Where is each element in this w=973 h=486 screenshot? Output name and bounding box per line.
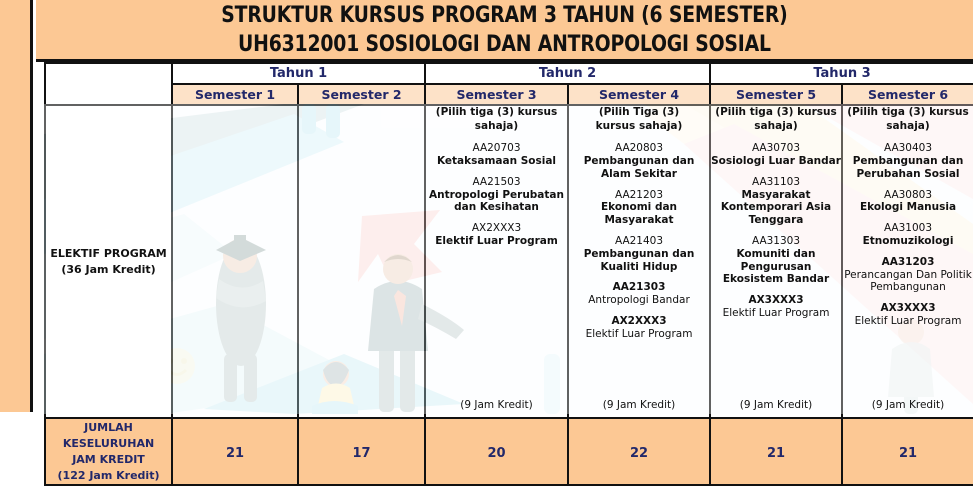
course-name: Elektif Luar Program (435, 235, 558, 248)
course-code: AA21403 (584, 235, 695, 248)
course-item: AX2XXX3 Elektif Luar Program (435, 222, 558, 248)
cell-semester-2 (298, 105, 425, 418)
course-code: AA30803 (860, 189, 956, 202)
course-item: AX2XXX3 Elektif Luar Program (586, 315, 693, 341)
left-orange-band (0, 0, 33, 412)
pick-note-semester-5: (Pilih tiga (3) kursus sahaja) (715, 106, 836, 133)
course-item: AA31003 Etnomuzikologi (863, 222, 954, 248)
course-item: AA30703 Sosiologi Luar Bandar (711, 142, 841, 168)
course-name: Perancangan Dan Politik Pembangunan (844, 269, 972, 295)
course-item: AA31203 Perancangan Dan Politik Pembangu… (844, 256, 972, 294)
total-credit-row: JUMLAH KESELURUHAN JAM KREDIT (122 Jam K… (45, 418, 973, 485)
total-value: 22 (630, 446, 648, 461)
course-code: AX3XXX3 (723, 294, 830, 307)
semester-header-4: Semester 4 (568, 84, 710, 105)
course-code: AA31303 (723, 235, 829, 248)
year-header-1: Tahun 1 (172, 63, 425, 84)
year-header-row: Tahun 1 Tahun 2 Tahun 3 (45, 63, 973, 84)
course-name: Pembangunan dan Alam Sekitar (584, 155, 695, 181)
course-name: Pembangunan dan Perubahan Sosial (853, 155, 964, 181)
course-code: AX3XXX3 (855, 302, 962, 315)
year-header-3: Tahun 3 (710, 63, 973, 84)
course-structure-page: STRUKTUR KURSUS PROGRAM 3 TAHUN (6 SEMES… (0, 0, 973, 486)
corner-blank-cell (45, 63, 172, 105)
total-semester-4: 22 (568, 418, 710, 485)
structure-table: Tahun 1 Tahun 2 Tahun 3 Semester 1 Semes… (44, 62, 973, 486)
course-code: AA21503 (429, 176, 564, 189)
semester-header-1: Semester 1 (172, 84, 298, 105)
course-code: AA30703 (711, 142, 841, 155)
total-semester-6: 21 (842, 418, 973, 485)
title-line-1: STRUKTUR KURSUS PROGRAM 3 TAHUN (6 SEMES… (221, 1, 787, 30)
course-name: Antropologi Perubatan dan Kesihatan (429, 189, 564, 215)
course-code: AA20803 (584, 142, 695, 155)
course-matrix: Tahun 1 Tahun 2 Tahun 3 Semester 1 Semes… (44, 62, 973, 486)
course-name: Pembangunan dan Kualiti Hidup (584, 248, 695, 274)
total-semester-5: 21 (710, 418, 842, 485)
total-semester-2: 17 (298, 418, 425, 485)
total-semester-1: 21 (172, 418, 298, 485)
credit-note-semester-3: (9 Jam Kredit) (460, 399, 532, 417)
page-title: STRUKTUR KURSUS PROGRAM 3 TAHUN (6 SEMES… (36, 0, 973, 62)
course-name: Antropologi Bandar (588, 294, 690, 307)
course-code: AA31103 (721, 176, 831, 189)
course-item: AA20803 Pembangunan dan Alam Sekitar (584, 142, 695, 180)
year-header-2: Tahun 2 (425, 63, 710, 84)
course-code: AA21203 (601, 189, 677, 202)
credit-note-semester-5: (9 Jam Kredit) (740, 399, 812, 417)
cell-semester-3-inner: (Pilih tiga (3) kursus sahaja) AA20703 K… (426, 106, 567, 417)
cell-semester-6-inner: (Pilih tiga (3) kursus sahaja) AA30403 P… (843, 106, 973, 417)
pick-note-semester-6: (Pilih tiga (3) kursus sahaja) (847, 106, 968, 133)
course-name: Ekonomi dan Masyarakat (601, 201, 677, 227)
course-name: Ekologi Manusia (860, 201, 956, 214)
course-code: AA21303 (588, 281, 690, 294)
course-name: Komuniti dan Pengurusan Ekosistem Bandar (723, 248, 829, 286)
course-item: AA31303 Komuniti dan Pengurusan Ekosiste… (723, 235, 829, 286)
pick-note-semester-4: (Pilih Tiga (3) kursus sahaja) (596, 106, 683, 133)
cell-semester-3: (Pilih tiga (3) kursus sahaja) AA20703 K… (425, 105, 568, 418)
semester-header-3: Semester 3 (425, 84, 568, 105)
course-name: Elektif Luar Program (586, 328, 693, 341)
total-value: 20 (487, 446, 505, 461)
semester-header-2: Semester 2 (298, 84, 425, 105)
row-label-text: ELEKTIF PROGRAM (36 Jam Kredit) (46, 246, 171, 278)
course-code: AA30403 (853, 142, 964, 155)
total-label-text: JUMLAH KESELURUHAN JAM KREDIT (122 Jam K… (46, 420, 171, 484)
total-value: 21 (899, 446, 917, 461)
course-item: AA21303 Antropologi Bandar (588, 281, 690, 307)
course-name: Ketaksamaan Sosial (437, 155, 556, 168)
semester-header-6: Semester 6 (842, 84, 973, 105)
course-item: AX3XXX3 Elektif Luar Program (723, 294, 830, 320)
total-value: 21 (226, 446, 244, 461)
total-value: 21 (767, 446, 785, 461)
elektif-program-row: ELEKTIF PROGRAM (36 Jam Kredit) (Pilih t… (45, 105, 973, 418)
course-code: AA31203 (844, 256, 972, 269)
course-name: Masyarakat Kontemporari Asia Tenggara (721, 189, 831, 227)
total-label-cell: JUMLAH KESELURUHAN JAM KREDIT (122 Jam K… (45, 418, 172, 485)
course-name: Elektif Luar Program (855, 315, 962, 328)
cell-semester-5-inner: (Pilih tiga (3) kursus sahaja) AA30703 S… (711, 106, 841, 417)
course-code: AA20703 (437, 142, 556, 155)
cell-semester-4: (Pilih Tiga (3) kursus sahaja) AA20803 P… (568, 105, 710, 418)
course-name: Etnomuzikologi (863, 235, 954, 248)
course-item: AA30803 Ekologi Manusia (860, 189, 956, 215)
cell-semester-1 (172, 105, 298, 418)
course-name: Sosiologi Luar Bandar (711, 155, 841, 168)
total-semester-3: 20 (425, 418, 568, 485)
course-code: AX2XXX3 (586, 315, 693, 328)
cell-semester-5: (Pilih tiga (3) kursus sahaja) AA30703 S… (710, 105, 842, 418)
course-item: AA21403 Pembangunan dan Kualiti Hidup (584, 235, 695, 273)
pick-note-semester-3: (Pilih tiga (3) kursus sahaja) (436, 106, 557, 133)
course-item: AA20703 Ketaksamaan Sosial (437, 142, 556, 168)
course-name: Elektif Luar Program (723, 307, 830, 320)
cell-semester-6: (Pilih tiga (3) kursus sahaja) AA30403 P… (842, 105, 973, 418)
course-item: AA21503 Antropologi Perubatan dan Kesiha… (429, 176, 564, 214)
semester-header-row: Semester 1 Semester 2 Semester 3 Semeste… (45, 84, 973, 105)
semester-header-5: Semester 5 (710, 84, 842, 105)
credit-note-semester-4: (9 Jam Kredit) (603, 399, 675, 417)
course-item: AX3XXX3 Elektif Luar Program (855, 302, 962, 328)
course-item: AA21203 Ekonomi dan Masyarakat (601, 189, 677, 227)
course-item: AA31103 Masyarakat Kontemporari Asia Ten… (721, 176, 831, 227)
total-value: 17 (352, 446, 370, 461)
row-label-elektif-program: ELEKTIF PROGRAM (36 Jam Kredit) (45, 105, 172, 418)
credit-note-semester-6: (9 Jam Kredit) (872, 399, 944, 417)
course-item: AA30403 Pembangunan dan Perubahan Sosial (853, 142, 964, 180)
title-line-2: UH6312001 SOSIOLOGI DAN ANTROPOLOGI SOSI… (238, 30, 771, 59)
course-code: AX2XXX3 (435, 222, 558, 235)
course-code: AA31003 (863, 222, 954, 235)
cell-semester-4-inner: (Pilih Tiga (3) kursus sahaja) AA20803 P… (569, 106, 709, 417)
